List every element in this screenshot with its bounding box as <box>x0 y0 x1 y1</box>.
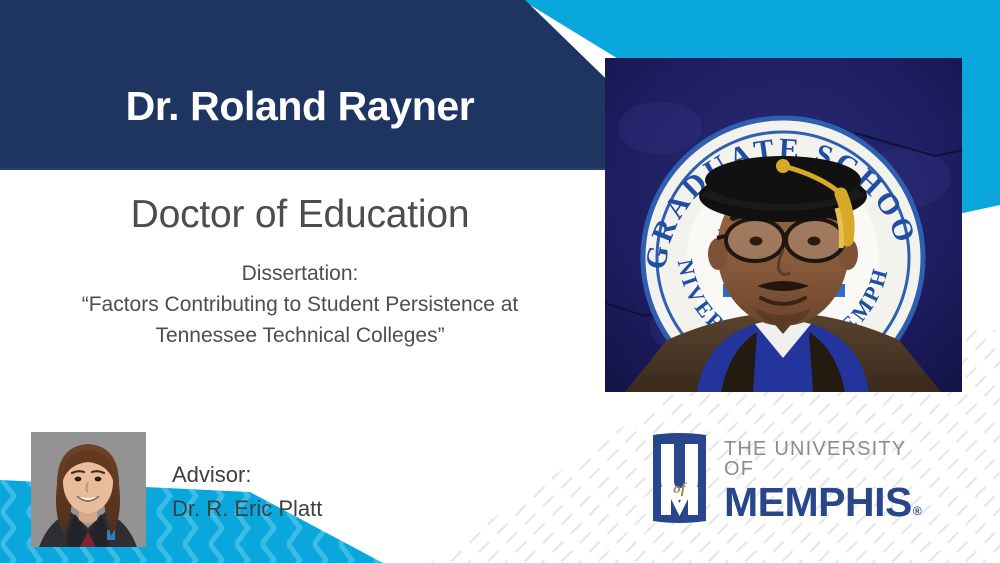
dissertation-title-line-2: Tennessee Technical Colleges” <box>0 320 600 351</box>
university-wordmark: THE UNIVERSITY OF MEMPHIS® <box>724 439 924 524</box>
advisor-label: Advisor: <box>172 458 322 492</box>
dissertation-label: Dissertation: <box>0 258 600 289</box>
wordmark-line-1: THE UNIVERSITY OF <box>724 439 924 479</box>
slide-canvas: GRADUATE SCHOOL • UNIVERSITY OF MEMPHIS … <box>0 0 1000 563</box>
header-underline <box>0 168 700 170</box>
dissertation-title-line-1: “Factors Contributing to Student Persist… <box>0 289 600 320</box>
advisor-block: Advisor: Dr. R. Eric Platt <box>172 458 322 526</box>
uofm-monogram-icon: of <box>648 431 711 525</box>
advisor-headshot-photo <box>31 432 146 547</box>
graduate-portrait-photo: GRADUATE SCHOOL • UNIVERSITY OF MEMPHIS … <box>605 58 962 392</box>
advisor-name: Dr. R. Eric Platt <box>172 492 322 526</box>
dissertation-block: Dissertation: “Factors Contributing to S… <box>0 258 600 351</box>
university-of-memphis-logo: of THE UNIVERSITY OF MEMPHIS® <box>648 431 918 525</box>
wordmark-line-2: MEMPHIS® <box>724 482 924 524</box>
page-title: Dr. Roland Rayner <box>0 84 600 129</box>
registered-trademark-icon: ® <box>913 504 921 518</box>
degree-title: Doctor of Education <box>0 193 600 237</box>
uofm-of-text: of <box>673 481 688 497</box>
wordmark-memphis: MEMPHIS <box>724 479 912 525</box>
